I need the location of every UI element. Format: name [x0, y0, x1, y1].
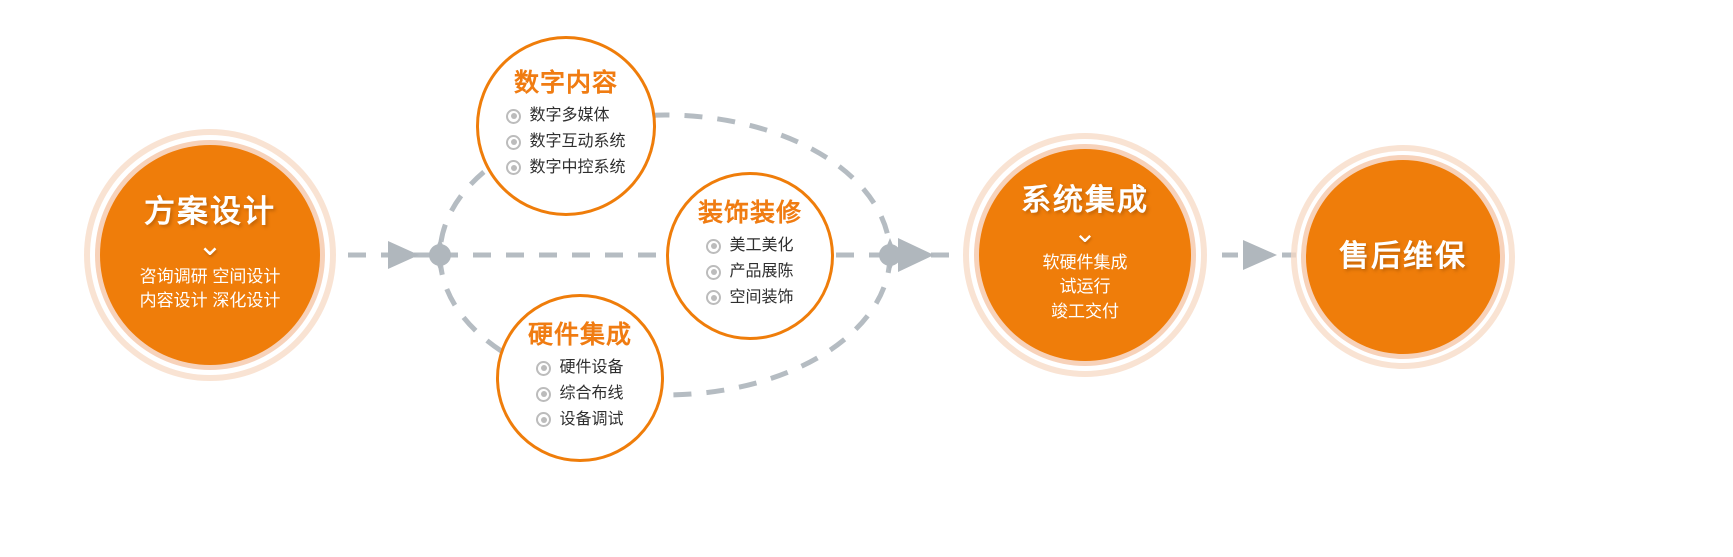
- process-flow-diagram: 方案设计 ⌄ 咨询调研 空间设计 内容设计 深化设计 数字内容 数字多媒体 数字…: [0, 0, 1733, 557]
- stage-service-title: 售后维保: [1339, 241, 1467, 273]
- stage-hardware-title: 硬件集成: [528, 323, 632, 348]
- stage-integration-title: 系统集成: [1021, 185, 1149, 217]
- stage-system-integration[interactable]: 系统集成 ⌄ 软硬件集成 试运行 竣工交付: [979, 149, 1191, 361]
- bullet-icon: [536, 387, 551, 402]
- bullet-icon: [506, 135, 521, 150]
- list-item: 设备调试: [536, 407, 623, 433]
- stage-hardware-integration[interactable]: 硬件集成 硬件设备 综合布线 设备调试: [496, 294, 664, 462]
- list-item: 数字中控系统: [506, 155, 625, 181]
- list-item: 空间装饰: [706, 285, 793, 311]
- list-item: 美工美化: [706, 233, 793, 259]
- bullet-icon: [536, 361, 551, 376]
- stage-plan-design[interactable]: 方案设计 ⌄ 咨询调研 空间设计 内容设计 深化设计: [100, 145, 320, 365]
- bullet-icon: [506, 109, 521, 124]
- list-item-label: 数字多媒体: [529, 103, 609, 129]
- stage-digital-title: 数字内容: [514, 71, 618, 96]
- list-item: 综合布线: [536, 381, 623, 407]
- list-item-label: 美工美化: [729, 233, 793, 259]
- bullet-icon: [706, 265, 721, 280]
- list-item: 数字互动系统: [506, 129, 625, 155]
- list-item-label: 数字中控系统: [529, 155, 625, 181]
- arrow-right-icon: [388, 241, 419, 269]
- chevron-down-icon: ⌄: [1073, 219, 1096, 247]
- stage-integration-sub-1: 软硬件集成: [1043, 251, 1128, 276]
- stage-digital-list: 数字多媒体 数字互动系统 数字中控系统: [506, 103, 625, 181]
- arrow-right-icon: [1243, 240, 1277, 270]
- stage-digital-content[interactable]: 数字内容 数字多媒体 数字互动系统 数字中控系统: [476, 36, 656, 216]
- bullet-icon: [706, 239, 721, 254]
- arrow-right-icon: [898, 238, 934, 272]
- chevron-down-icon: ⌄: [197, 231, 222, 261]
- bullet-icon: [506, 160, 521, 175]
- junction-node-icon: [879, 238, 901, 272]
- stage-after-sales-service[interactable]: 售后维保: [1306, 160, 1500, 354]
- list-item: 产品展陈: [706, 259, 793, 285]
- stage-decoration-list: 美工美化 产品展陈 空间装饰: [706, 233, 793, 311]
- list-item: 硬件设备: [536, 355, 623, 381]
- list-item-label: 产品展陈: [729, 259, 793, 285]
- stage-decoration-title: 装饰装修: [698, 201, 802, 226]
- bullet-icon: [706, 290, 721, 305]
- stage-plan-sub-1: 咨询调研 空间设计: [140, 265, 281, 290]
- bullet-icon: [536, 412, 551, 427]
- junction-node-icon: [429, 238, 451, 272]
- stage-hardware-list: 硬件设备 综合布线 设备调试: [536, 355, 623, 433]
- stage-decoration[interactable]: 装饰装修 美工美化 产品展陈 空间装饰: [666, 172, 834, 340]
- list-item-label: 硬件设备: [559, 355, 623, 381]
- stage-integration-sub-2: 试运行: [1060, 275, 1111, 300]
- list-item-label: 综合布线: [559, 381, 623, 407]
- list-item-label: 设备调试: [559, 407, 623, 433]
- list-item-label: 数字互动系统: [529, 129, 625, 155]
- stage-plan-title: 方案设计: [144, 196, 276, 229]
- stage-plan-sub-2: 内容设计 深化设计: [140, 289, 281, 314]
- stage-integration-sub-3: 竣工交付: [1051, 300, 1119, 325]
- list-item-label: 空间装饰: [729, 285, 793, 311]
- list-item: 数字多媒体: [506, 103, 625, 129]
